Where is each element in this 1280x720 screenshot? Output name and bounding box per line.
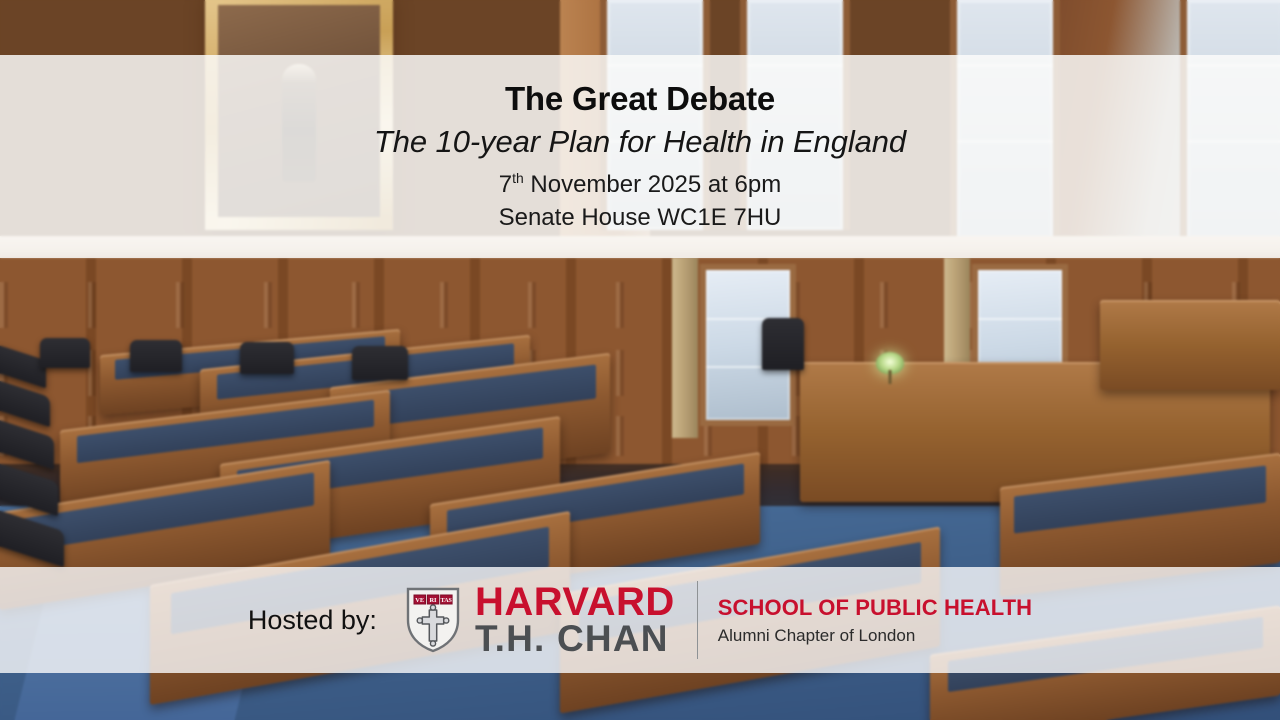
logo-divider-rule xyxy=(697,581,698,659)
speakers-chair xyxy=(762,318,804,370)
school-wordmark: SCHOOL OF PUBLIC HEALTH Alumni Chapter o… xyxy=(718,595,1032,646)
date-day-number: 7 xyxy=(499,171,512,198)
curtain-left xyxy=(672,258,698,438)
date-remainder: November 2025 at 6pm xyxy=(524,171,781,198)
harvard-wordmark: HARVARD T.H. CHAN xyxy=(475,583,675,657)
chair-7 xyxy=(130,340,182,372)
host-logo-lockup: Hosted by: VE RI TAS xyxy=(248,581,1032,659)
harvard-veritas-shield-icon: VE RI TAS xyxy=(405,586,461,654)
chair-9 xyxy=(352,346,408,380)
footer-band: Hosted by: VE RI TAS xyxy=(0,567,1280,673)
date-ordinal-suffix: th xyxy=(512,170,524,186)
chapter-name: Alumni Chapter of London xyxy=(718,626,1032,646)
title-band: The Great Debate The 10-year Plan for He… xyxy=(0,55,1280,258)
desk-lamp xyxy=(876,352,904,374)
wordmark-th-chan: T.H. CHAN xyxy=(475,621,675,657)
event-datetime: 7th November 2025 at 6pm xyxy=(499,169,781,201)
wordmark-harvard: HARVARD xyxy=(475,583,675,621)
hosted-by-label: Hosted by: xyxy=(248,605,377,636)
svg-text:RI: RI xyxy=(429,597,437,604)
chair-6 xyxy=(40,338,90,368)
page-subtitle: The 10-year Plan for Health in England xyxy=(374,123,906,162)
svg-text:VE: VE xyxy=(415,597,424,604)
rear-bench xyxy=(1100,300,1280,390)
event-slide: The Great Debate The 10-year Plan for He… xyxy=(0,0,1280,720)
chair-8 xyxy=(240,342,294,374)
svg-text:TAS: TAS xyxy=(441,598,453,604)
panel-row-upper xyxy=(0,282,1280,328)
event-venue: Senate House WC1E 7HU xyxy=(499,202,782,234)
page-title: The Great Debate xyxy=(505,81,775,117)
school-name: SCHOOL OF PUBLIC HEALTH xyxy=(718,595,1032,620)
